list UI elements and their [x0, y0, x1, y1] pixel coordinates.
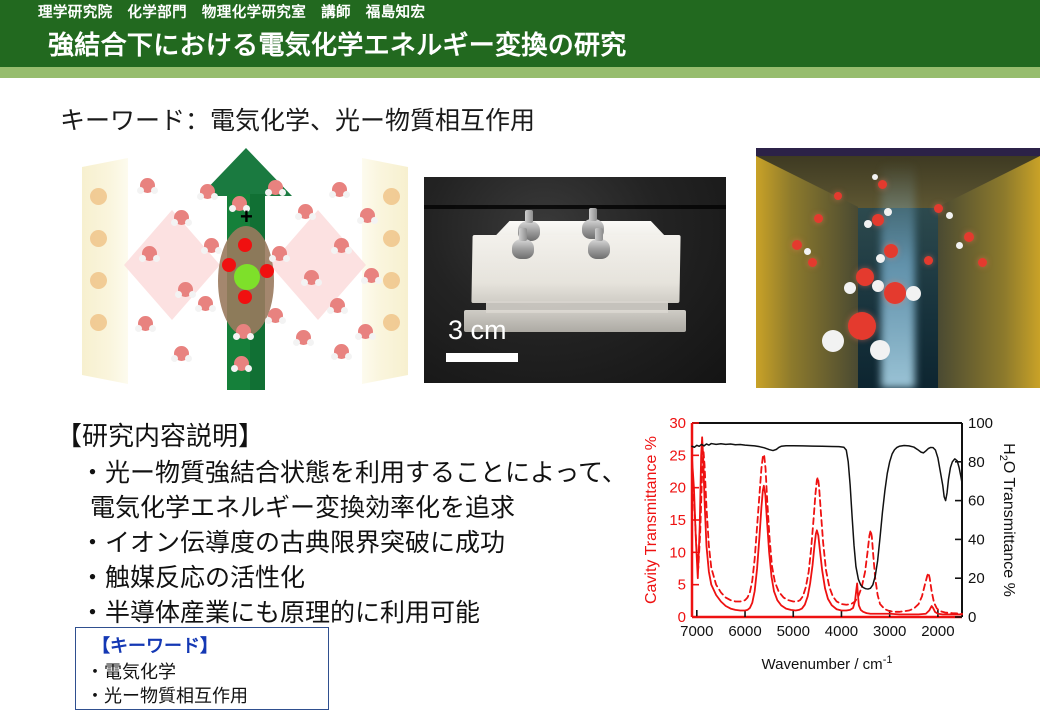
water-molecule: [272, 246, 287, 261]
render-water-hydrogen: [844, 282, 856, 294]
water-molecule: [360, 208, 375, 223]
water-molecule: [204, 238, 219, 253]
chart-yaxis-label-right: H2O Transmittance %: [997, 443, 1017, 597]
figure-water-chain-render: [756, 148, 1040, 388]
mirror-hole-icon: [383, 188, 400, 205]
water-molecule: [174, 210, 189, 225]
scale-bar: [446, 353, 518, 362]
chart-series-solid-right: [692, 444, 962, 590]
render-water-oxygen: [792, 240, 802, 250]
render-water-oxygen: [884, 244, 898, 258]
render-water-hydrogen: [956, 242, 963, 249]
chart-ytick-label-left: 30: [669, 415, 686, 432]
water-molecule: [236, 324, 251, 339]
water-molecule: [178, 282, 193, 297]
positive-charge-label: +: [240, 210, 253, 224]
description-title: 【研究内容説明】: [56, 418, 636, 454]
ir-transmittance-chart: 7000600050004000300020000510152025300204…: [630, 405, 1040, 675]
chart-ytick-label-left: 5: [678, 577, 686, 594]
render-water-oxygen: [814, 214, 823, 223]
description-body: ・光ー物質強結合状態を利用することによって、 電気化学エネルギー変換効率化を追求…: [56, 456, 636, 631]
slide-root: 理学研究院 化学部門 物理化学研究室 講師 福島知宏 強結合下における電気化学エ…: [0, 0, 1040, 720]
chart-xaxis-label: Wavenumber / cm-1: [762, 654, 893, 673]
figure-cell-photo: 3 cm: [424, 177, 726, 383]
render-water-hydrogen: [906, 286, 921, 301]
chart-ytick-label-right: 0: [968, 609, 976, 626]
chart-ytick-label-left: 15: [669, 512, 686, 529]
chart-xtick-label: 4000: [825, 623, 858, 640]
render-water-oxygen: [884, 282, 906, 304]
water-molecule: [174, 346, 189, 361]
render-water-oxygen: [808, 258, 817, 267]
cell-top-slab: [471, 235, 680, 303]
mirror-hole-icon: [383, 272, 400, 289]
chart-xtick-label: 2000: [921, 623, 954, 640]
chart-ytick-label-left: 25: [669, 447, 686, 464]
mirror-hole-icon: [383, 314, 400, 331]
water-molecule: [268, 180, 283, 195]
keyword-line: キーワード：電気化学、光ー物質相互作用: [60, 104, 700, 138]
render-water-oxygen: [934, 204, 943, 213]
render-water-hydrogen: [822, 330, 844, 352]
header-affiliation: 理学研究院 化学部門 物理化学研究室 講師 福島知宏: [38, 3, 938, 24]
description-line: ・イオン伝導度の古典限界突破に成功: [56, 526, 636, 561]
water-molecule: [268, 308, 283, 323]
chart-ytick-label-left: 0: [678, 609, 686, 626]
water-molecule: [298, 204, 313, 219]
render-water-oxygen: [848, 312, 876, 340]
render-water-oxygen: [978, 258, 987, 267]
render-water-oxygen: [834, 192, 842, 200]
figure-strong-coupling-schematic: +: [82, 148, 408, 390]
water-molecule: [138, 316, 153, 331]
chart-ytick-label-right: 40: [968, 531, 985, 548]
chart-ytick-label-left: 10: [669, 544, 686, 561]
chart-ytick-label-right: 20: [968, 570, 985, 587]
oxygen-atom: [238, 290, 252, 304]
description-line: 電気化学エネルギー変換効率化を追求: [56, 491, 636, 526]
chart-xtick-label: 3000: [873, 623, 906, 640]
water-molecule: [330, 298, 345, 313]
water-molecule: [140, 178, 155, 193]
render-water-hydrogen: [946, 212, 953, 219]
keyword-box: 【キーワード】 ・電気化学 ・光ー物質相互作用: [75, 627, 329, 710]
mirror-hole-icon: [90, 314, 107, 331]
mirror-hole-icon: [90, 230, 107, 247]
water-molecule: [304, 270, 319, 285]
render-water-hydrogen: [872, 174, 878, 180]
water-molecule: [234, 356, 249, 371]
chart-ytick-label-right: 60: [968, 493, 985, 510]
water-molecule: [198, 296, 213, 311]
chart-ytick-label-right: 100: [968, 415, 993, 432]
chart-yaxis-label-left: Cavity Transmittance %: [643, 436, 660, 604]
mirror-hole-icon: [90, 272, 107, 289]
research-description: 【研究内容説明】 ・光ー物質強結合状態を利用することによって、 電気化学エネルギ…: [56, 418, 636, 631]
water-molecule: [334, 238, 349, 253]
render-water-hydrogen: [864, 220, 872, 228]
chart-xtick-label: 5000: [777, 623, 810, 640]
page-title: 強結合下における電気化学エネルギー変換の研究: [48, 27, 1008, 63]
render-water-hydrogen: [804, 248, 811, 255]
water-molecule: [334, 344, 349, 359]
keyword-box-item: ・光ー物質相互作用: [86, 682, 248, 708]
render-water-oxygen: [872, 214, 884, 226]
oxygen-atom: [222, 258, 236, 272]
water-molecule: [364, 268, 379, 283]
render-water-hydrogen: [872, 280, 884, 292]
chart-series-solid-left: [692, 437, 962, 614]
water-molecule: [332, 182, 347, 197]
chart-svg: 7000600050004000300020000510152025300204…: [630, 405, 1040, 675]
cell-screw: [512, 239, 534, 259]
mirror-hole-icon: [90, 188, 107, 205]
render-water-hydrogen: [884, 208, 892, 216]
description-line: ・光ー物質強結合状態を利用することによって、: [56, 456, 636, 491]
keyword-box-item: ・電気化学: [86, 658, 176, 684]
chart-ytick-label-right: 80: [968, 454, 985, 471]
chart-ytick-label-left: 20: [669, 480, 686, 497]
water-molecule: [358, 324, 373, 339]
description-line: ・半導体産業にも原理的に利用可能: [56, 596, 636, 631]
ion-center: [234, 264, 260, 290]
render-water-hydrogen: [876, 254, 885, 263]
cavity-mode-lobe-right: [270, 210, 366, 320]
chart-xtick-label: 6000: [728, 623, 761, 640]
photo-bench-edge: [424, 205, 726, 209]
mirror-hole-icon: [383, 230, 400, 247]
water-molecule: [142, 246, 157, 261]
oxygen-atom: [238, 238, 252, 252]
render-water-oxygen: [924, 256, 933, 265]
keyword-box-title: 【キーワード】: [92, 632, 218, 658]
water-molecule: [296, 330, 311, 345]
oxygen-atom: [260, 264, 274, 278]
chart-series-dashed-left: [692, 452, 962, 614]
header-accent-bar: [0, 67, 1040, 78]
cell-screw: [588, 239, 610, 259]
render-water-oxygen: [964, 232, 974, 242]
water-molecule: [200, 184, 215, 199]
render-water-oxygen: [878, 180, 887, 189]
scale-bar-label: 3 cm: [448, 315, 507, 346]
description-line: ・触媒反応の活性化: [56, 561, 636, 596]
render-water-hydrogen: [870, 340, 890, 360]
